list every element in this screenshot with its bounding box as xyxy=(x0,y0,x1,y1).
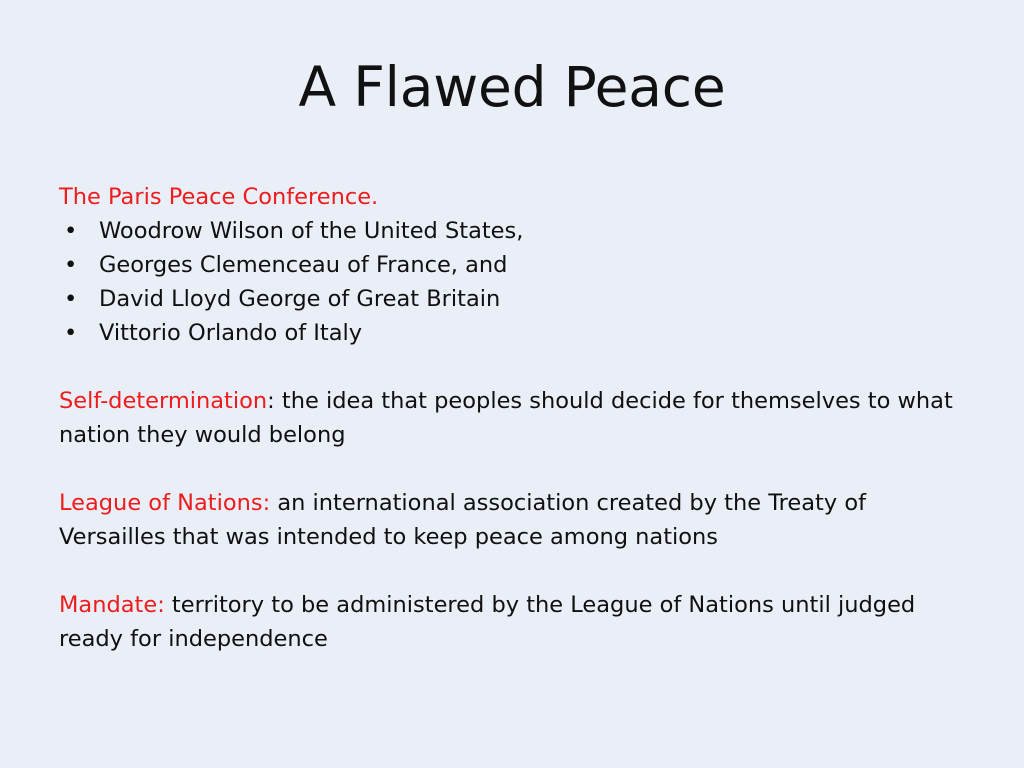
bullet-icon: • xyxy=(64,316,78,350)
definition-league-of-nations: League of Nations: an international asso… xyxy=(59,486,979,554)
section-spacer xyxy=(59,350,979,384)
conference-participants-list: • Woodrow Wilson of the United States, •… xyxy=(59,214,979,350)
bullet-icon: • xyxy=(64,282,78,316)
section-spacer xyxy=(59,554,979,588)
list-item-label: David Lloyd George of Great Britain xyxy=(99,286,500,312)
definition-self-determination: Self-determination: the idea that people… xyxy=(59,384,979,452)
presentation-slide: A Flawed Peace The Paris Peace Conferenc… xyxy=(0,0,1024,768)
slide-body: The Paris Peace Conference. • Woodrow Wi… xyxy=(59,180,979,656)
definition-term: Mandate: xyxy=(59,592,165,618)
bullet-icon: • xyxy=(64,214,78,248)
definition-term: League of Nations: xyxy=(59,490,270,516)
list-item: • Georges Clemenceau of France, and xyxy=(59,248,979,282)
list-item-label: Vittorio Orlando of Italy xyxy=(99,320,362,346)
page-title: A Flawed Peace xyxy=(0,58,1024,117)
definition-mandate: Mandate: territory to be administered by… xyxy=(59,588,979,656)
definition-term: Self-determination xyxy=(59,388,267,414)
bullet-icon: • xyxy=(64,248,78,282)
definition-body: territory to be administered by the Leag… xyxy=(59,592,915,652)
list-item: • Woodrow Wilson of the United States, xyxy=(59,214,979,248)
list-item: • Vittorio Orlando of Italy xyxy=(59,316,979,350)
paris-peace-conference-section: The Paris Peace Conference. • Woodrow Wi… xyxy=(59,180,979,350)
list-item: • David Lloyd George of Great Britain xyxy=(59,282,979,316)
definition-separator: : xyxy=(267,388,275,414)
section-spacer xyxy=(59,452,979,486)
section-heading-paris-peace-conference: The Paris Peace Conference. xyxy=(59,180,979,214)
list-item-label: Georges Clemenceau of France, and xyxy=(99,252,507,278)
list-item-label: Woodrow Wilson of the United States, xyxy=(99,218,523,244)
